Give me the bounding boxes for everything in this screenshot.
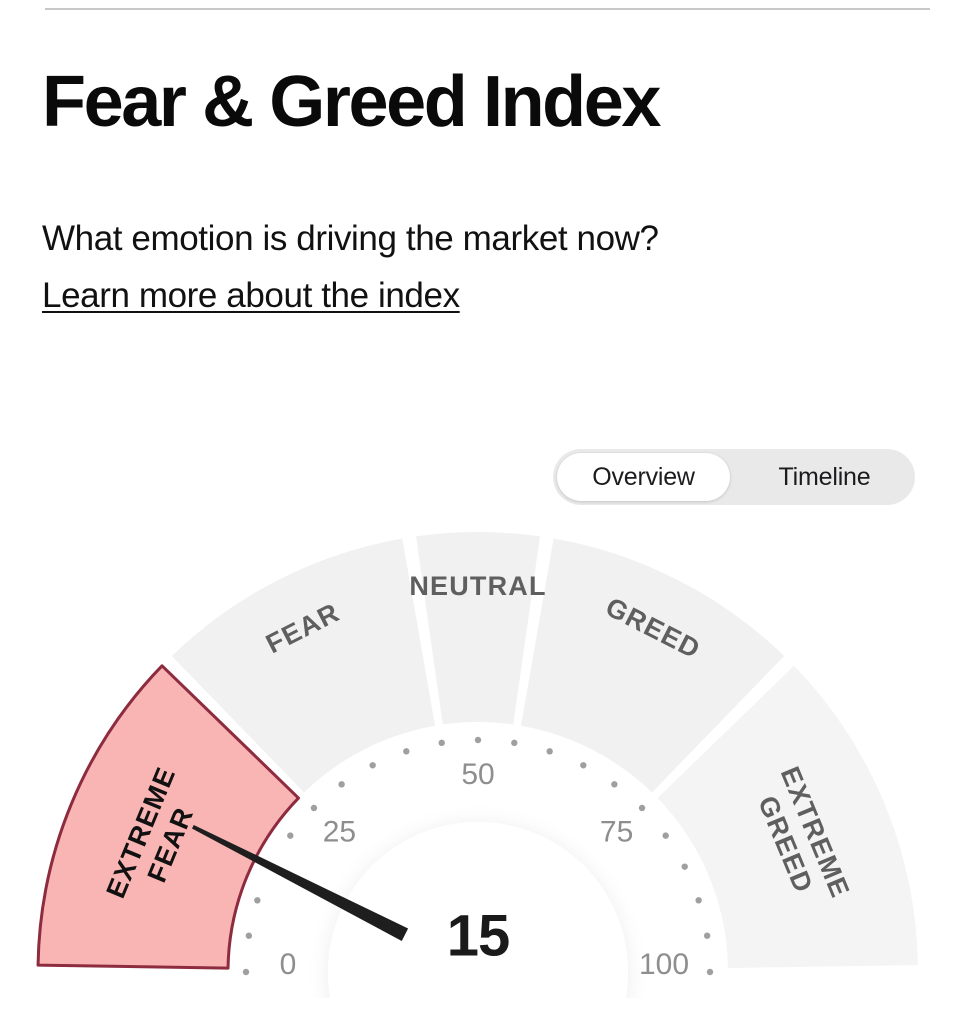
gauge-tick xyxy=(311,805,317,811)
fear-greed-page: Fear & Greed Index What emotion is drivi… xyxy=(0,0,962,1024)
view-toggle[interactable]: Overview Timeline xyxy=(553,449,915,505)
tab-overview[interactable]: Overview xyxy=(557,453,730,501)
gauge-scale-label-100: 100 xyxy=(639,948,689,981)
gauge-svg: 0255075100 EXTREMEFEARFEARNEUTRALGREEDEX… xyxy=(0,498,962,998)
gauge-value: 15 xyxy=(447,903,510,968)
gauge-tick xyxy=(662,832,668,838)
gauge-tick xyxy=(682,863,688,869)
gauge-tick xyxy=(403,748,409,754)
gauge-tick xyxy=(707,969,713,975)
page-title: Fear & Greed Index xyxy=(42,66,922,138)
gauge-tick xyxy=(254,897,260,903)
gauge-scale-label-50: 50 xyxy=(461,758,494,791)
gauge-label-neutral: NEUTRAL xyxy=(409,571,546,601)
gauge-tick xyxy=(439,740,445,746)
gauge-tick xyxy=(546,748,552,754)
gauge-tick xyxy=(243,969,249,975)
gauge-tick xyxy=(695,897,701,903)
gauge-scale-label-75: 75 xyxy=(600,815,633,848)
gauge-tick xyxy=(287,832,293,838)
gauge-tick xyxy=(611,781,617,787)
top-divider xyxy=(45,8,930,10)
gauge-tick xyxy=(580,762,586,768)
gauge-scale-label-25: 25 xyxy=(323,815,356,848)
gauge-tick xyxy=(704,933,710,939)
gauge-scale-label-0: 0 xyxy=(280,948,297,981)
gauge-tick xyxy=(511,740,517,746)
gauge-chart: 0255075100 EXTREMEFEARFEARNEUTRALGREEDEX… xyxy=(0,498,962,998)
gauge-tick xyxy=(246,933,252,939)
gauge-tick xyxy=(639,805,645,811)
gauge-segment-neutral xyxy=(416,532,540,724)
gauge-tick xyxy=(369,762,375,768)
gauge-tick xyxy=(475,737,481,743)
page-header: Fear & Greed Index xyxy=(42,66,922,138)
gauge-label-text: NEUTRAL xyxy=(409,571,546,601)
tab-timeline[interactable]: Timeline xyxy=(738,453,911,501)
gauge-tick xyxy=(338,781,344,787)
learn-more-link[interactable]: Learn more about the index xyxy=(42,276,460,316)
page-subtitle: What emotion is driving the market now? xyxy=(42,219,659,259)
